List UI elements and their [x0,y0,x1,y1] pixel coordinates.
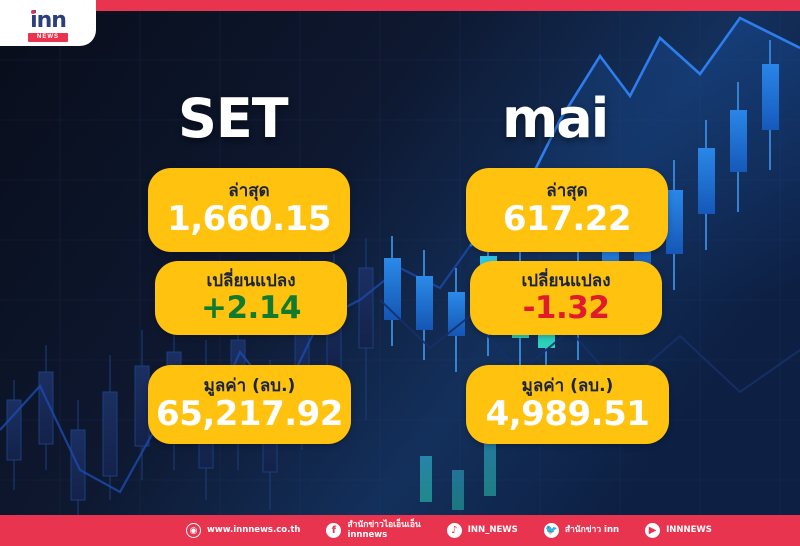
social-youtube-label: INNNEWS [666,526,712,536]
facebook-icon: f [326,523,341,538]
mai-turnover-label: มูลค่า (ลบ.) [522,377,614,396]
mai-last-card: ล่าสุด 617.22 [466,168,668,252]
top-accent-bar [0,0,800,11]
social-website-label: www.innnews.co.th [207,526,300,536]
inn-news-logo[interactable]: inn NEWS [0,0,96,46]
mai-change-value: -1.32 [523,292,610,325]
tiktok-icon: ♪ [447,523,462,538]
mai-last-value: 617.22 [503,202,631,238]
mai-change-label: เปลี่ยนแปลง [521,272,610,291]
index-title-mai: mai [502,92,607,146]
mai-change-card: เปลี่ยนแปลง -1.32 [470,261,662,335]
footer-social-bar: ◉ www.innnews.co.th f สำนักข่าวไอเอ็นเอ็… [0,515,800,546]
set-last-card: ล่าสุด 1,660.15 [148,168,350,252]
social-tiktok[interactable]: ♪ INN_NEWS [447,523,518,538]
social-twitter[interactable]: 🐦 สำนักข่าว inn [544,523,619,538]
youtube-icon: ▶ [645,523,660,538]
set-change-value: +2.14 [201,292,301,325]
set-turnover-label: มูลค่า (ลบ.) [204,377,296,396]
social-youtube[interactable]: ▶ INNNEWS [645,523,712,538]
set-turnover-card: มูลค่า (ลบ.) 65,217.92 [148,365,351,444]
background-stock-chart [0,0,800,546]
set-turnover-value: 65,217.92 [156,397,343,433]
social-facebook[interactable]: f สำนักข่าวไอเอ็นเอ็น innnews [326,521,420,540]
social-facebook-handle: innnews [347,531,420,541]
social-twitter-label: สำนักข่าว inn [565,526,619,536]
logo-wordmark: inn [30,11,66,32]
globe-icon: ◉ [186,523,201,538]
set-last-value: 1,660.15 [167,202,331,238]
set-change-label: เปลี่ยนแปลง [206,272,295,291]
logo-news-badge: NEWS [28,33,68,42]
mai-turnover-value: 4,989.51 [486,397,650,433]
set-change-card: เปลี่ยนแปลง +2.14 [155,261,347,335]
twitter-icon: 🐦 [544,523,559,538]
infographic-canvas: inn NEWS SET ล่าสุด 1,660.15 เปลี่ยนแปลง… [0,0,800,546]
social-website[interactable]: ◉ www.innnews.co.th [186,523,300,538]
mai-turnover-card: มูลค่า (ลบ.) 4,989.51 [466,365,669,444]
index-title-set: SET [178,92,288,146]
logo-dot-icon [31,10,35,14]
social-tiktok-label: INN_NEWS [468,526,518,536]
